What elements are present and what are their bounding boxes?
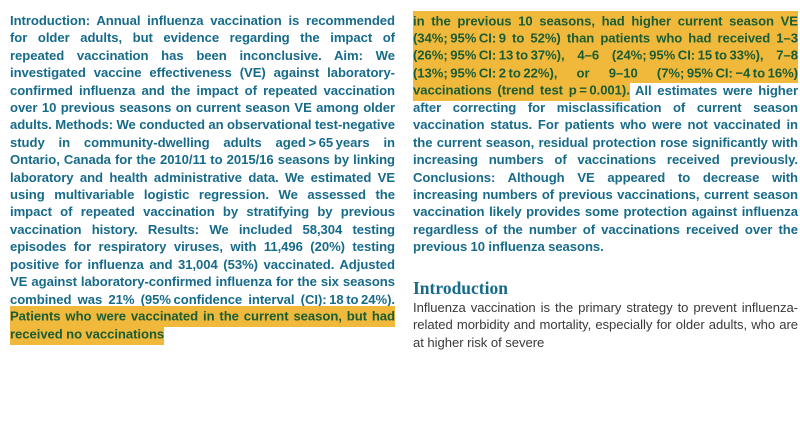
highlighted-text-left: Patients who were vaccinated in the curr… <box>10 306 395 344</box>
abstract-methods-text: We conducted an observational test-negat… <box>10 117 395 236</box>
right-column: in the previous 10 seasons, had higher c… <box>413 0 798 422</box>
introduction-paragraph: Influenza vaccination is the primary str… <box>413 298 798 351</box>
abstract-text-left: Introduction: Annual influenza vaccinati… <box>10 0 395 343</box>
abstract-label-conclusions: Conclusions: <box>413 170 495 185</box>
article-page: Introduction: Annual influenza vaccinati… <box>0 0 800 422</box>
abstract-label-methods: Methods: <box>55 117 113 132</box>
abstract-label-results: Results: <box>148 222 199 237</box>
abstract-label-aim: Aim: <box>334 48 363 63</box>
abstract-text-right: in the previous 10 seasons, had higher c… <box>413 0 798 256</box>
section-spacer <box>413 256 798 278</box>
left-column: Introduction: Annual influenza vaccinati… <box>10 0 395 422</box>
introduction-heading: Introduction <box>413 278 798 298</box>
abstract-label-introduction: Introduction: <box>10 13 90 28</box>
